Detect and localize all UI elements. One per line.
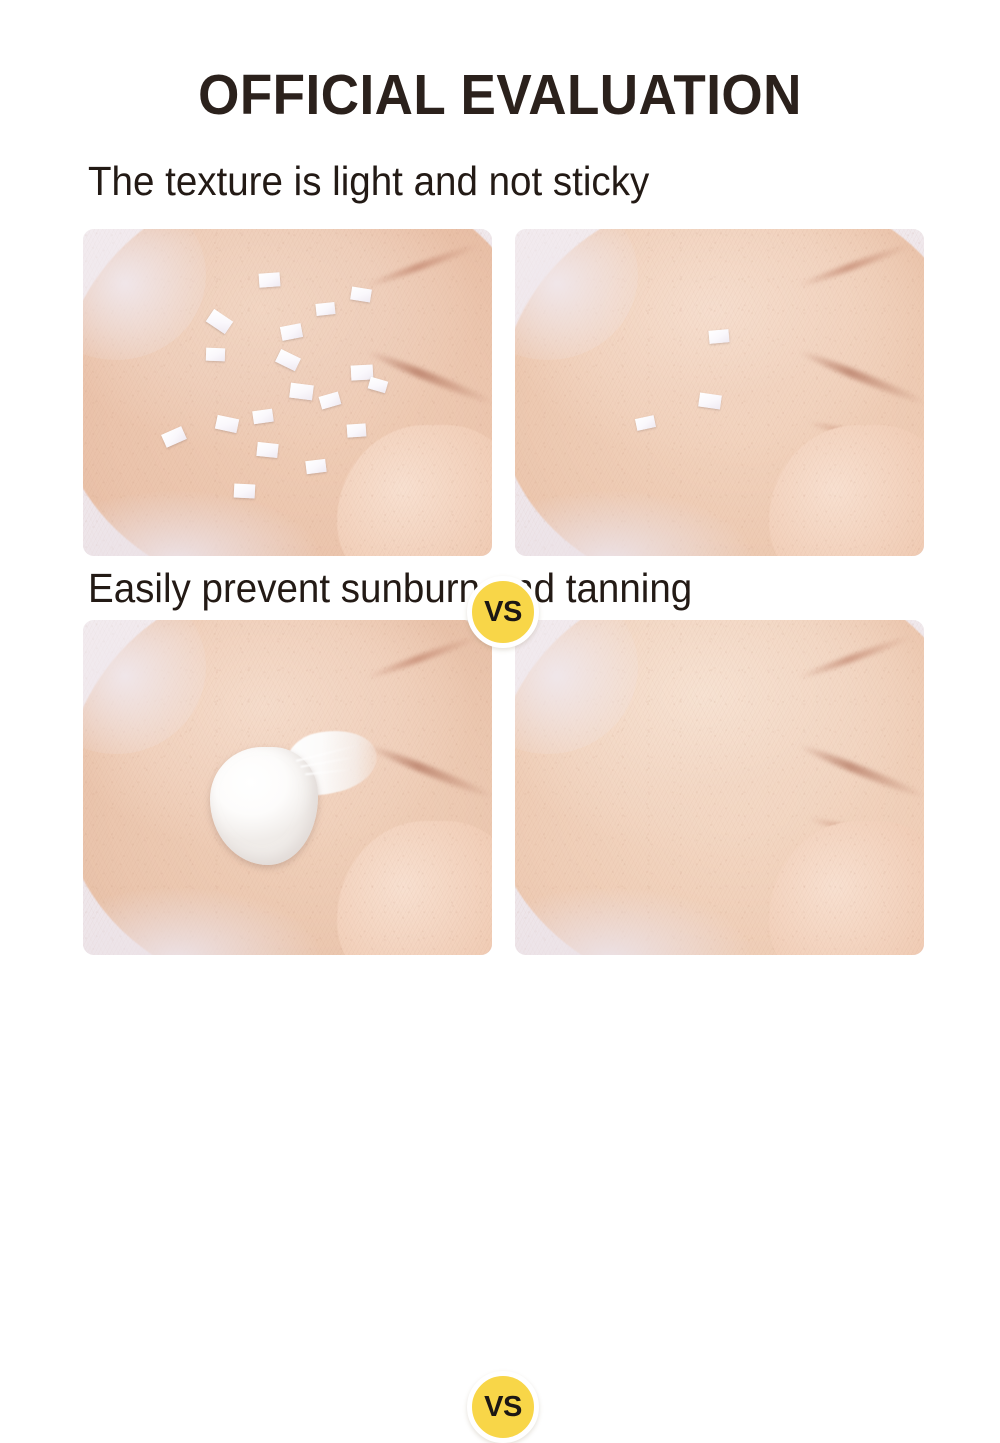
paper-flake	[289, 383, 314, 401]
photo-panel-sunburn-before	[83, 620, 492, 955]
photo-panel-sunburn-after	[515, 620, 924, 955]
page-title: OFFICIAL EVALUATION	[35, 62, 965, 128]
paper-flake	[205, 348, 225, 361]
hand-photo-many-flakes	[83, 229, 492, 556]
hand-photo-with-cream	[83, 620, 492, 955]
hand-photo-absorbed	[515, 620, 924, 955]
paper-flake	[256, 442, 279, 458]
comparison-row-sunburn: VS	[0, 620, 1000, 955]
section-heading-texture: The texture is light and not sticky	[88, 158, 649, 205]
photo-panel-texture-after	[515, 229, 924, 556]
comparison-row-texture: VS	[0, 229, 1000, 556]
vs-badge-sunburn: VS	[467, 1371, 539, 1443]
paper-flake	[234, 484, 256, 499]
vs-badge-texture: VS	[467, 576, 539, 648]
hand-photo-few-flakes	[515, 229, 924, 556]
paper-flake	[709, 329, 731, 344]
paper-flake	[316, 302, 336, 316]
paper-flake	[258, 272, 280, 287]
section-heading-sunburn: Easily prevent sunburn and tanning	[88, 565, 692, 612]
photo-panel-texture-before	[83, 229, 492, 556]
cream-blob	[210, 747, 318, 865]
paper-flake	[698, 393, 722, 410]
paper-flake	[305, 458, 327, 474]
cream-dollop	[210, 731, 374, 865]
paper-flake	[346, 423, 366, 437]
paper-flake	[350, 286, 372, 302]
